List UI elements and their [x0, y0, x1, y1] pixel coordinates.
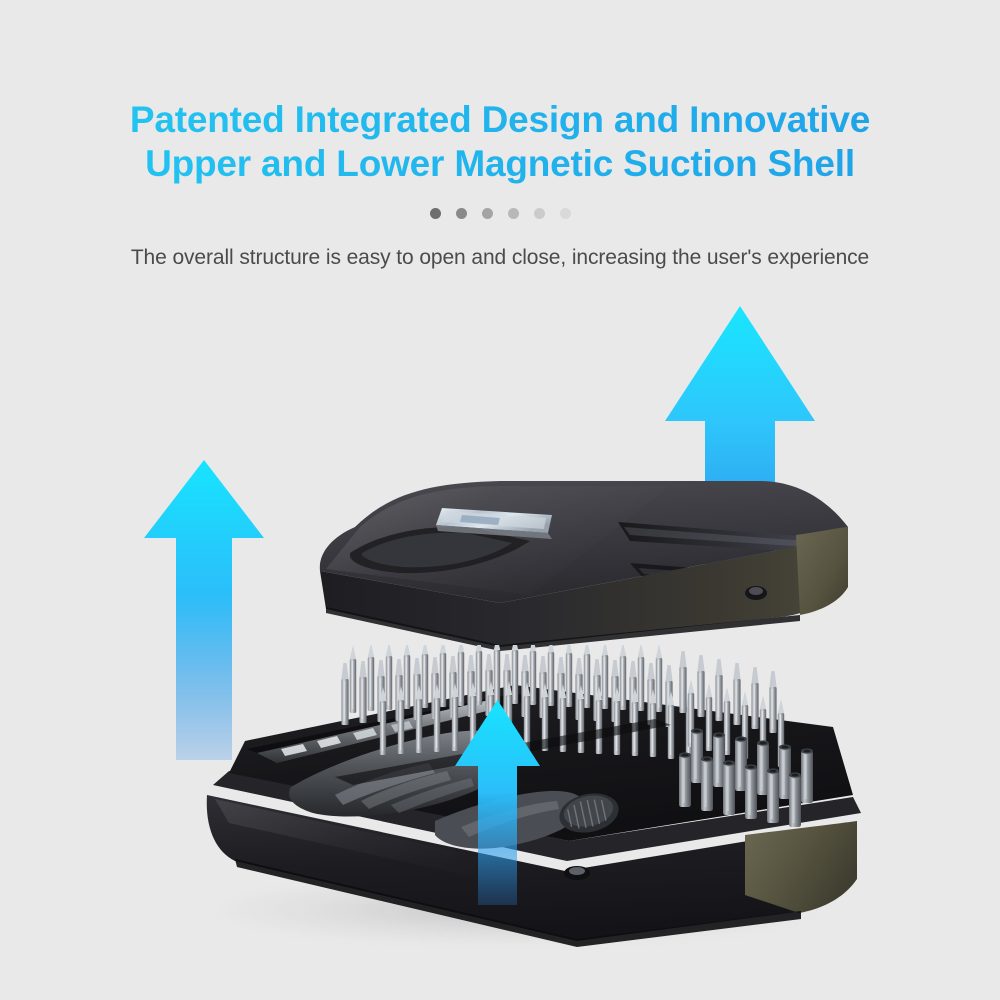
page-title-line-1: Patented Integrated Design and Innovativ…: [0, 98, 1000, 142]
product-illustration: [0, 290, 1000, 1000]
page-title: Patented Integrated Design and Innovativ…: [0, 98, 1000, 186]
carousel-dot-5[interactable]: [534, 208, 545, 219]
carousel-dot-1[interactable]: [430, 208, 441, 219]
carousel-dot-3[interactable]: [482, 208, 493, 219]
page-subtitle: The overall structure is easy to open an…: [0, 246, 1000, 270]
carousel-dot-2[interactable]: [456, 208, 467, 219]
upper-magnetic-shell: [200, 475, 860, 655]
carousel-dot-6[interactable]: [560, 208, 571, 219]
carousel-dots[interactable]: [0, 208, 1000, 219]
arrow-up-middle-icon: [455, 700, 540, 905]
page-title-line-2: Upper and Lower Magnetic Suction Shell: [0, 142, 1000, 186]
product-feature-banner: Patented Integrated Design and Innovativ…: [0, 0, 1000, 1000]
carousel-dot-4[interactable]: [508, 208, 519, 219]
